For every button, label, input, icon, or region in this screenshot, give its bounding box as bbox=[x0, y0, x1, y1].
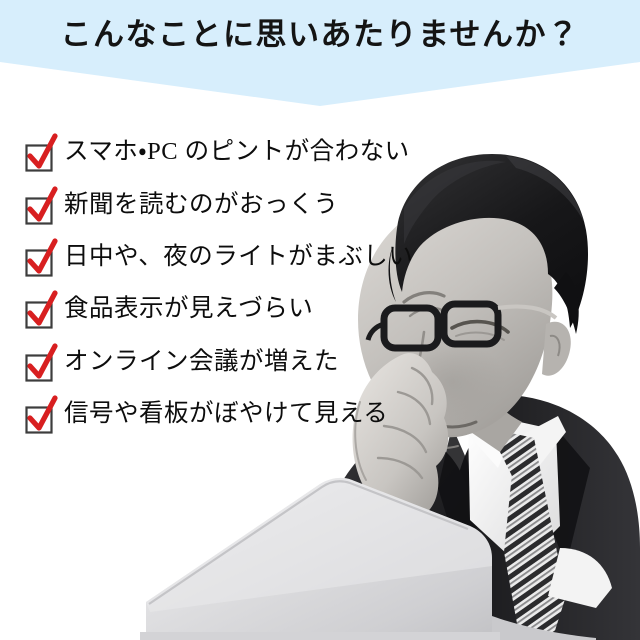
list-item-label: 日中や、夜のライトがまぶしい bbox=[64, 242, 413, 272]
list-item[interactable]: 信号や看板がぼやけて見える bbox=[0, 388, 470, 440]
page-title: こんなことに思いあたりませんか？ bbox=[0, 14, 640, 56]
list-item-label: 食品表示が見えづらい bbox=[64, 294, 313, 324]
symptom-checklist: スマホ・PC のピントが合わない 新聞を読むのがおっくう 日中や、夜のライトがま… bbox=[0, 126, 470, 440]
checkbox-checked-icon[interactable] bbox=[20, 135, 54, 169]
list-item-label: スマホ・PC のピントが合わない bbox=[64, 137, 410, 167]
list-item[interactable]: 新聞を読むのがおっくう bbox=[0, 178, 470, 230]
list-item-label: オンライン会議が増えた bbox=[64, 347, 339, 377]
checkbox-checked-icon[interactable] bbox=[20, 345, 54, 379]
promo-banner-root: こんなことに思いあたりませんか？ スマホ・PC のピントが合わない 新聞を読むの… bbox=[0, 0, 640, 640]
checkbox-checked-icon[interactable] bbox=[20, 292, 54, 326]
list-item[interactable]: スマホ・PC のピントが合わない bbox=[0, 126, 470, 178]
checkbox-checked-icon[interactable] bbox=[20, 240, 54, 274]
list-item-label: 新聞を読むのがおっくう bbox=[64, 190, 339, 220]
list-item[interactable]: オンライン会議が増えた bbox=[0, 336, 470, 388]
checkbox-checked-icon[interactable] bbox=[20, 397, 54, 431]
checkbox-checked-icon[interactable] bbox=[20, 188, 54, 222]
list-item-label: 信号や看板がぼやけて見える bbox=[64, 399, 388, 429]
list-item[interactable]: 日中や、夜のライトがまぶしい bbox=[0, 231, 470, 283]
list-item[interactable]: 食品表示が見えづらい bbox=[0, 283, 470, 335]
